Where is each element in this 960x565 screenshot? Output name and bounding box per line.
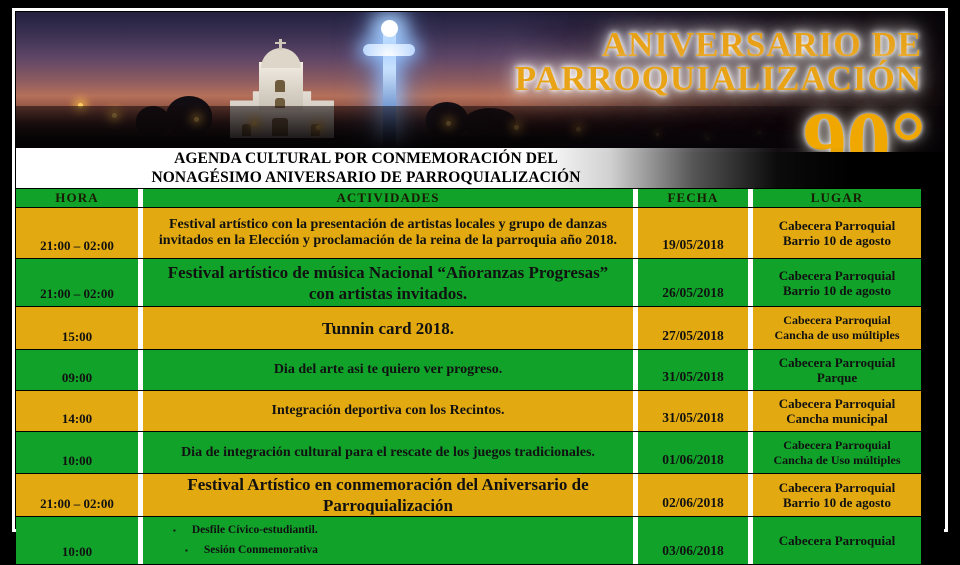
cell-actividad: Festival artístico de música Nacional “A… [143, 259, 633, 306]
cell-lugar: Cabecera ParroquialParque [753, 350, 921, 390]
cell-actividad: Tunnin card 2018. [143, 307, 633, 349]
lugar-line-2: Cancha de Uso múltiples [769, 453, 904, 468]
cell-hora: 10:00 [16, 517, 138, 564]
table-row: 10:00Dia de integración cultural para el… [16, 432, 944, 474]
cell-actividad: Desfile Cívico-estudiantil.Sesión Conmem… [143, 517, 633, 564]
page-title-line-1: AGENDA CULTURAL POR CONMEMORACIÓN DEL [106, 149, 626, 168]
anniversary-number: 90° [803, 100, 926, 152]
lugar-line-2: Barrio 10 de agosto [779, 233, 895, 248]
actividad-bullet-list: Desfile Cívico-estudiantil.Sesión Conmem… [143, 521, 633, 559]
cell-lugar: Cabecera ParroquialCancha municipal [753, 391, 921, 431]
cell-lugar: Cabecera ParroquialBarrio 10 de agosto [753, 474, 921, 516]
fecha-value: 31/05/2018 [662, 369, 724, 390]
cell-fecha: 31/05/2018 [638, 350, 748, 390]
table-row: 15:00Tunnin card 2018.27/05/2018Cabecera… [16, 307, 944, 350]
cell-hora: 21:00 – 02:00 [16, 474, 138, 516]
hora-value: 21:00 – 02:00 [40, 238, 114, 258]
actividad-bullet-item: Desfile Cívico-estudiantil. [173, 521, 633, 540]
lugar-line-1: Cabecera Parroquial [775, 480, 899, 495]
table-right-edge [921, 350, 944, 390]
actividad-value: Dia de integración cultural para el resc… [171, 445, 605, 461]
cell-hora: 15:00 [16, 307, 138, 349]
hora-value: 10:00 [62, 544, 92, 564]
lugar-line-1: Cabecera Parroquial [775, 355, 899, 370]
banner-headline: ANIVERSARIO DE PARROQUIALIZACIÓN [515, 28, 922, 95]
fecha-value: 02/06/2018 [662, 495, 724, 516]
lugar-line-2: Cancha municipal [782, 411, 892, 426]
actividad-value: Festival Artístico en conmemoración del … [143, 474, 633, 516]
fecha-value: 31/05/2018 [662, 410, 724, 431]
cell-fecha: 01/06/2018 [638, 432, 748, 473]
table-right-edge [921, 189, 944, 207]
cell-actividad: Integración deportiva con los Recintos. [143, 391, 633, 431]
table-right-edge [921, 391, 944, 431]
column-header-actividades: ACTIVIDADES [143, 189, 633, 207]
schedule-table: HORAACTIVIDADESFECHALUGAR21:00 – 02:00Fe… [16, 189, 944, 528]
hora-value: 10:00 [62, 453, 92, 473]
column-header-fecha: FECHA [638, 189, 748, 207]
actividad-value: Tunnin card 2018. [312, 318, 464, 339]
table-right-edge [921, 432, 944, 473]
table-right-edge [921, 208, 944, 258]
cell-hora: 14:00 [16, 391, 138, 431]
hora-value: 09:00 [62, 370, 92, 390]
lugar-line-1: Cabecera Parroquial [775, 268, 899, 283]
lugar-line-1: Cabecera Parroquial [779, 438, 894, 453]
table-row: 21:00 – 02:00Festival artístico de músic… [16, 259, 944, 307]
banner-photo: ANIVERSARIO DE PARROQUIALIZACIÓN 90° [16, 12, 944, 152]
cell-lugar: Cabecera ParroquialCancha de Uso múltipl… [753, 432, 921, 473]
fecha-value: 19/05/2018 [662, 237, 724, 258]
table-right-edge [921, 474, 944, 516]
table-right-edge [921, 307, 944, 349]
cell-fecha: 03/06/2018 [638, 517, 748, 564]
hora-value: 21:00 – 02:00 [40, 286, 114, 306]
table-row: 10:00Desfile Cívico-estudiantil.Sesión C… [16, 517, 944, 565]
cell-fecha: 27/05/2018 [638, 307, 748, 349]
fecha-value: 26/05/2018 [662, 285, 724, 306]
lugar-line-1: Cabecera Parroquial [775, 533, 899, 548]
fecha-value: 01/06/2018 [662, 452, 724, 473]
column-header-lugar: LUGAR [753, 189, 921, 207]
poster: ANIVERSARIO DE PARROQUIALIZACIÓN 90° AGE… [0, 0, 960, 540]
cell-fecha: 02/06/2018 [638, 474, 748, 516]
actividad-value: Festival artístico con la presentación d… [143, 217, 633, 249]
table-row: 09:00Dia del arte asi te quiero ver prog… [16, 350, 944, 391]
table-right-edge [921, 259, 944, 306]
lugar-line-2: Cancha de uso múltiples [770, 328, 903, 343]
cell-actividad: Festival artístico con la presentación d… [143, 208, 633, 258]
title-strip: AGENDA CULTURAL POR CONMEMORACIÓN DEL NO… [16, 148, 944, 188]
cell-fecha: 31/05/2018 [638, 391, 748, 431]
cell-actividad: Festival Artístico en conmemoración del … [143, 474, 633, 516]
lugar-line-1: Cabecera Parroquial [775, 218, 899, 233]
lugar-line-1: Cabecera Parroquial [775, 396, 899, 411]
lugar-line-2: Parque [813, 370, 861, 385]
actividad-value: Dia del arte asi te quiero ver progreso. [264, 362, 512, 378]
cell-lugar: Cabecera ParroquialBarrio 10 de agosto [753, 259, 921, 306]
table-right-edge [921, 517, 944, 564]
fecha-value: 03/06/2018 [662, 543, 724, 564]
cell-hora: 09:00 [16, 350, 138, 390]
hora-value: 15:00 [62, 329, 92, 349]
cell-fecha: 26/05/2018 [638, 259, 748, 306]
cell-hora: 21:00 – 02:00 [16, 259, 138, 306]
hora-value: 21:00 – 02:00 [40, 496, 114, 516]
hora-value: 14:00 [62, 411, 92, 431]
cell-fecha: 19/05/2018 [638, 208, 748, 258]
table-header-row: HORAACTIVIDADESFECHALUGAR [16, 189, 944, 208]
headline-line-1: ANIVERSARIO DE [515, 28, 922, 62]
actividad-value: Festival artístico de música Nacional “A… [143, 262, 633, 304]
cell-lugar: Cabecera ParroquialCancha de uso múltipl… [753, 307, 921, 349]
actividad-value: Integración deportiva con los Recintos. [262, 403, 515, 419]
lugar-line-2: Barrio 10 de agosto [779, 283, 895, 298]
lugar-line-1: Cabecera Parroquial [779, 313, 894, 328]
fecha-value: 27/05/2018 [662, 328, 724, 349]
column-header-hora: HORA [16, 189, 138, 207]
cell-lugar: Cabecera ParroquialBarrio 10 de agosto [753, 208, 921, 258]
cell-actividad: Dia del arte asi te quiero ver progreso. [143, 350, 633, 390]
cell-lugar: Cabecera Parroquial [753, 517, 921, 564]
actividad-bullet-item: Sesión Conmemorativa [173, 541, 633, 560]
headline-line-2: PARROQUIALIZACIÓN [515, 62, 922, 96]
page-title: AGENDA CULTURAL POR CONMEMORACIÓN DEL NO… [106, 149, 626, 187]
lugar-line-2: Barrio 10 de agosto [779, 495, 895, 510]
table-row: 21:00 – 02:00Festival Artístico en conme… [16, 474, 944, 517]
table-row: 21:00 – 02:00Festival artístico con la p… [16, 208, 944, 259]
cell-hora: 21:00 – 02:00 [16, 208, 138, 258]
cell-actividad: Dia de integración cultural para el resc… [143, 432, 633, 473]
page-title-line-2: NONAGÉSIMO ANIVERSARIO DE PARROQUIALIZAC… [106, 168, 626, 187]
cell-hora: 10:00 [16, 432, 138, 473]
table-row: 14:00Integración deportiva con los Recin… [16, 391, 944, 432]
